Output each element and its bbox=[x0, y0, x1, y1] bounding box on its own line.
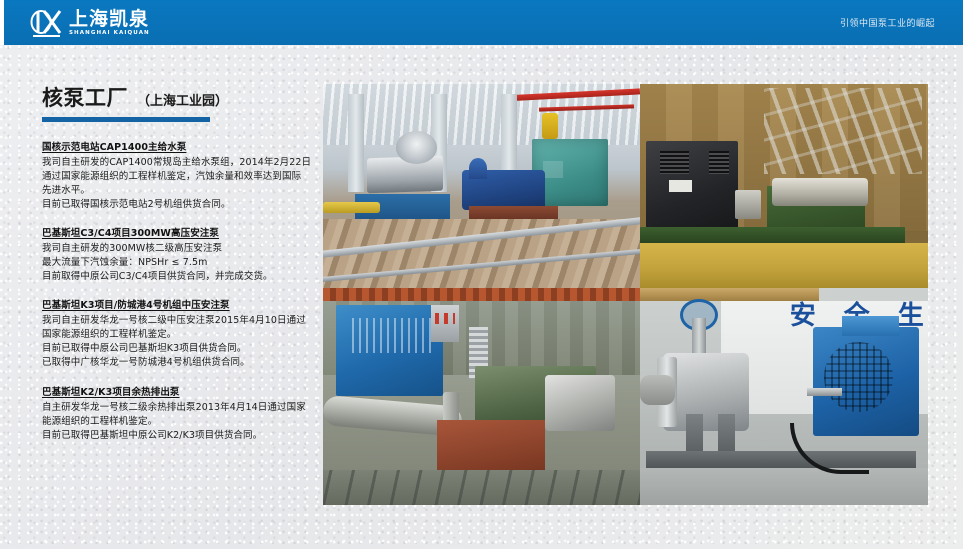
project-block: 巴基斯坦K3项目/防城港4号机组中压安注泵 我司自主研发华龙一号核二级中压安注泵… bbox=[42, 297, 320, 370]
project-line: 通过国家能源组织的工程样机鉴定，汽蚀余量和效率达到国际 bbox=[42, 170, 320, 184]
project-line: 自主研发华龙一号核二级余热排出泵2013年4月14日通过国家 bbox=[42, 401, 320, 415]
title-underline-rule bbox=[42, 117, 210, 122]
project-block: 国核示范电站CAP1400主给水泵 我司自主研发的CAP1400常规岛主给水泵组… bbox=[42, 139, 320, 212]
project-heading: 巴基斯坦C3/C4项目300MW高压安注泵 bbox=[42, 225, 320, 239]
page-title: 核泵工厂 （上海工业园） bbox=[42, 82, 320, 112]
wall-char: 安 bbox=[790, 303, 818, 329]
project-line: 国家能源组织的工程样机鉴定。 bbox=[42, 328, 320, 342]
project-heading: 巴基斯坦K2/K3项目余热排出泵 bbox=[42, 384, 320, 398]
photo-high-pressure-safety-injection-pump bbox=[640, 84, 928, 288]
project-heading: 巴基斯坦K3项目/防城港4号机组中压安注泵 bbox=[42, 297, 320, 311]
photo-factory-hall-feedwater-pump bbox=[323, 84, 640, 288]
project-blocks: 国核示范电站CAP1400主给水泵 我司自主研发的CAP1400常规岛主给水泵组… bbox=[42, 139, 320, 443]
brand-name-en: SHANGHAI KAIQUAN bbox=[69, 31, 150, 37]
project-line: 目前取得中原公司C3/C4项目供货合同，并完成交货。 bbox=[42, 270, 320, 284]
page-title-sub: （上海工业园） bbox=[137, 90, 228, 109]
project-line: 目前已取得国核示范电站2号机组供货合同。 bbox=[42, 198, 320, 212]
brand-logo[interactable]: 上海凯泉 SHANGHAI KAIQUAN bbox=[29, 7, 150, 39]
project-line: 我司自主研发的300MW核二级高压安注泵 bbox=[42, 242, 320, 256]
kaiquan-monogram-icon bbox=[29, 8, 63, 39]
header-bar: 上海凯泉 SHANGHAI KAIQUAN 引领中国泵工业的崛起 bbox=[0, 0, 963, 45]
page-title-main: 核泵工厂 bbox=[42, 82, 128, 112]
photo-grid: 安 全 生 bbox=[323, 84, 928, 505]
wall-char: 生 bbox=[898, 303, 926, 329]
project-line: 目前已取得巴基斯坦中原公司K2/K3项目供货合同。 bbox=[42, 429, 320, 443]
project-line: 已取得中广核华龙一号防城港4号机组供货合同。 bbox=[42, 356, 320, 370]
brand-wordmark: 上海凯泉 SHANGHAI KAIQUAN bbox=[69, 10, 150, 37]
brand-name-cn: 上海凯泉 bbox=[69, 10, 150, 29]
project-block: 巴基斯坦C3/C4项目300MW高压安注泵 我司自主研发的300MW核二级高压安… bbox=[42, 225, 320, 284]
photo-residual-heat-removal-pump: 安 全 生 bbox=[640, 288, 928, 505]
project-line: 我司自主研发华龙一号核二级中压安注泵2015年4月10日通过 bbox=[42, 314, 320, 328]
project-line: 目前已取得中原公司巴基斯坦K3项目供货合同。 bbox=[42, 342, 320, 356]
project-line: 先进水平。 bbox=[42, 184, 320, 198]
header-left-edge bbox=[0, 0, 4, 45]
slide-root: 上海凯泉 SHANGHAI KAIQUAN 引领中国泵工业的崛起 核泵工厂 （上… bbox=[0, 0, 963, 549]
header-tagline: 引领中国泵工业的崛起 bbox=[840, 0, 935, 45]
project-line: 能源组织的工程样机鉴定。 bbox=[42, 415, 320, 429]
project-line: 我司自主研发的CAP1400常规岛主给水泵组，2014年2月22日 bbox=[42, 156, 320, 170]
photo-medium-pressure-safety-injection-pump bbox=[323, 288, 640, 505]
project-heading: 国核示范电站CAP1400主给水泵 bbox=[42, 139, 320, 153]
project-block: 巴基斯坦K2/K3项目余热排出泵 自主研发华龙一号核二级余热排出泵2013年4月… bbox=[42, 384, 320, 443]
project-line: 最大流量下汽蚀余量：NPSHr ≤ 7.5m bbox=[42, 256, 320, 270]
left-text-column: 核泵工厂 （上海工业园） 国核示范电站CAP1400主给水泵 我司自主研发的CA… bbox=[42, 82, 320, 456]
